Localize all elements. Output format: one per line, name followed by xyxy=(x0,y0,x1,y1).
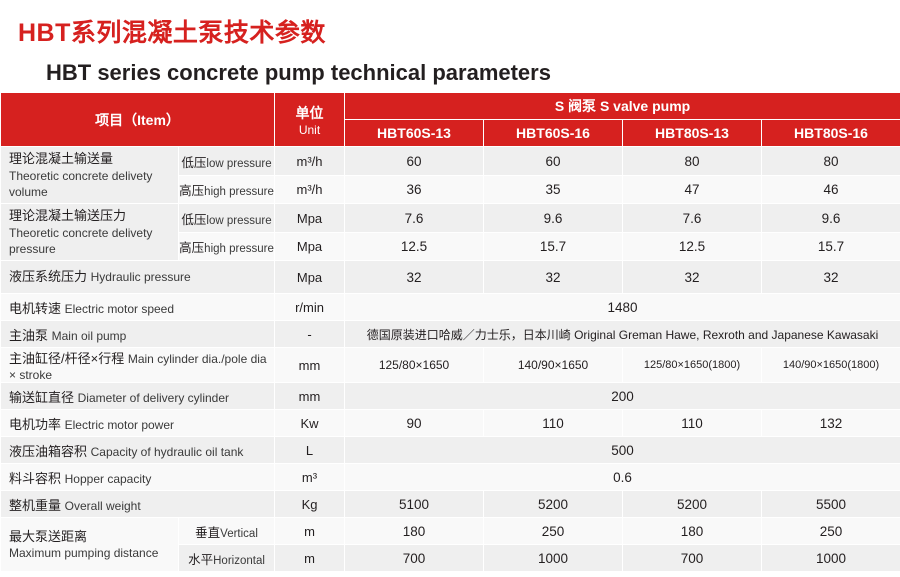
row-sublabel-vertical: 垂直Vertical xyxy=(179,518,275,545)
row-label-delivery-volume: 理论混凝土输送量 Theoretic concrete delivety vol… xyxy=(1,147,179,204)
cell-value: 9.6 xyxy=(762,204,900,232)
cell-value: 5100 xyxy=(345,491,484,518)
row-label-en: Theoretic concrete delivety volume xyxy=(9,168,178,200)
cell-value: 80 xyxy=(623,147,762,175)
cell-value: 110 xyxy=(484,410,623,437)
row-label-en: Overall weight xyxy=(65,499,141,513)
row-label-cn: 液压系统压力 xyxy=(9,269,87,284)
row-label-en: Electric motor speed xyxy=(65,302,174,316)
cell-value-merged: 1480 xyxy=(345,294,900,321)
header-unit: 单位 Unit xyxy=(275,93,345,147)
cell-value: 32 xyxy=(623,261,762,294)
row-unit: mm xyxy=(275,348,345,383)
header-unit-cn: 单位 xyxy=(275,103,344,123)
row-label-overall-weight: 整机重量 Overall weight xyxy=(1,491,275,518)
sublabel-cn: 低压 xyxy=(181,156,206,170)
cell-value: 250 xyxy=(762,518,900,545)
cell-value: 7.6 xyxy=(623,204,762,232)
cell-value: 5200 xyxy=(484,491,623,518)
row-label-cn: 整机重量 xyxy=(9,498,61,513)
cell-value: 15.7 xyxy=(484,232,623,260)
cell-value: 125/80×1650 xyxy=(345,348,484,383)
row-label-hydraulic-pressure: 液压系统压力 Hydraulic pressure xyxy=(1,261,275,294)
cell-value: 5200 xyxy=(623,491,762,518)
table-row: 电机功率 Electric motor power Kw 90 110 110 … xyxy=(1,410,900,437)
header-unit-en: Unit xyxy=(275,123,344,137)
row-label-cn: 理论混凝土输送量 xyxy=(9,150,178,168)
table-row: 理论混凝土输送量 Theoretic concrete delivety vol… xyxy=(1,147,900,175)
row-unit: m³/h xyxy=(275,175,345,203)
cell-value-merged: 0.6 xyxy=(345,464,900,491)
cell-value: 46 xyxy=(762,175,900,203)
row-label-en: Diameter of delivery cylinder xyxy=(78,391,229,405)
row-label-oil-tank-capacity: 液压油箱容积 Capacity of hydraulic oil tank xyxy=(1,437,275,464)
cell-value: 32 xyxy=(762,261,900,294)
row-unit: m xyxy=(275,545,345,572)
cell-value: 1000 xyxy=(762,545,900,572)
row-unit: m³/h xyxy=(275,147,345,175)
sublabel-en: Vertical xyxy=(220,528,258,540)
sublabel-en: low pressure xyxy=(206,215,271,227)
cell-value-merged: 200 xyxy=(345,383,900,410)
row-label-main-cylinder: 主油缸径/杆径×行程 Main cylinder dia./pole dia ×… xyxy=(1,348,275,383)
spec-table: 项目（Item） 单位 Unit S 阀泵 S valve pump HBT60… xyxy=(0,92,900,572)
header-model-2: HBT60S-16 xyxy=(484,120,623,147)
cell-value: 35 xyxy=(484,175,623,203)
row-sublabel-low-pressure: 低压low pressure xyxy=(179,204,275,232)
row-label-cn: 电机功率 xyxy=(9,417,61,432)
row-label-en: Hydraulic pressure xyxy=(91,270,191,284)
row-label-cn: 料斗容积 xyxy=(9,471,61,486)
row-label-cn: 理论混凝土输送压力 xyxy=(9,207,178,225)
row-label-en: Hopper capacity xyxy=(65,472,152,486)
row-unit: r/min xyxy=(275,294,345,321)
row-unit: Kg xyxy=(275,491,345,518)
row-label-main-oil-pump: 主油泵 Main oil pump xyxy=(1,321,275,348)
cell-value-merged: 500 xyxy=(345,437,900,464)
row-label-cn: 液压油箱容积 xyxy=(9,444,87,459)
row-label-max-pumping-distance: 最大泵送距离 Maximum pumping distance xyxy=(1,518,179,572)
row-sublabel-high-pressure: 高压high pressure xyxy=(179,232,275,260)
cell-value: 180 xyxy=(345,518,484,545)
row-sublabel-horizontal: 水平Horizontal xyxy=(179,545,275,572)
cell-value: 5500 xyxy=(762,491,900,518)
table-row: 整机重量 Overall weight Kg 5100 5200 5200 55… xyxy=(1,491,900,518)
cell-value-merged: 德国原装进口哈威／力士乐，日本川崎 Original Greman Hawe, … xyxy=(345,321,900,348)
sublabel-cn: 高压 xyxy=(179,184,204,198)
table-header-row-1: 项目（Item） 单位 Unit S 阀泵 S valve pump xyxy=(1,93,900,120)
header-item-cn: 项目 xyxy=(95,112,123,128)
table-row: 主油泵 Main oil pump - 德国原装进口哈威／力士乐，日本川崎 Or… xyxy=(1,321,900,348)
cell-value: 9.6 xyxy=(484,204,623,232)
cell-value: 47 xyxy=(623,175,762,203)
cell-value: 32 xyxy=(345,261,484,294)
row-unit: m³ xyxy=(275,464,345,491)
table-row: 液压系统压力 Hydraulic pressure Mpa 32 32 32 3… xyxy=(1,261,900,294)
page-title-cn: HBT系列混凝土泵技术参数 xyxy=(18,18,900,48)
row-sublabel-low-pressure: 低压low pressure xyxy=(179,147,275,175)
cell-value: 60 xyxy=(345,147,484,175)
row-label-cn: 主油泵 xyxy=(9,328,48,343)
row-unit: Kw xyxy=(275,410,345,437)
cell-value: 132 xyxy=(762,410,900,437)
header-item-en: （Item） xyxy=(123,112,180,128)
row-label-delivery-cylinder-dia: 输送缸直径 Diameter of delivery cylinder xyxy=(1,383,275,410)
row-label-motor-power: 电机功率 Electric motor power xyxy=(1,410,275,437)
table-row: 料斗容积 Hopper capacity m³ 0.6 xyxy=(1,464,900,491)
cell-value: 180 xyxy=(623,518,762,545)
row-label-en: Main oil pump xyxy=(52,329,127,343)
cell-value: 110 xyxy=(623,410,762,437)
row-sublabel-high-pressure: 高压high pressure xyxy=(179,175,275,203)
table-row: 主油缸径/杆径×行程 Main cylinder dia./pole dia ×… xyxy=(1,348,900,383)
row-label-cn: 主油缸径/杆径×行程 xyxy=(9,351,124,366)
cell-value: 80 xyxy=(762,147,900,175)
cell-value: 15.7 xyxy=(762,232,900,260)
row-label-en: Theoretic concrete delivety pressure xyxy=(9,225,178,257)
row-label-en: Maximum pumping distance xyxy=(9,545,178,561)
table-row: 电机转速 Electric motor speed r/min 1480 xyxy=(1,294,900,321)
sublabel-en: low pressure xyxy=(206,158,271,170)
cell-value: 140/90×1650 xyxy=(484,348,623,383)
cell-value: 1000 xyxy=(484,545,623,572)
cell-value: 700 xyxy=(345,545,484,572)
cell-value: 36 xyxy=(345,175,484,203)
header-group-svalve: S 阀泵 S valve pump xyxy=(345,93,900,120)
header-item: 项目（Item） xyxy=(1,93,275,147)
cell-value: 12.5 xyxy=(345,232,484,260)
row-unit: mm xyxy=(275,383,345,410)
row-label-cn: 输送缸直径 xyxy=(9,390,74,405)
row-label-cn: 电机转速 xyxy=(9,301,61,316)
row-label-delivery-pressure: 理论混凝土输送压力 Theoretic concrete delivety pr… xyxy=(1,204,179,261)
row-label-en: Electric motor power xyxy=(65,418,174,432)
table-row: 输送缸直径 Diameter of delivery cylinder mm 2… xyxy=(1,383,900,410)
table-row: 理论混凝土输送压力 Theoretic concrete delivety pr… xyxy=(1,204,900,232)
table-body: 理论混凝土输送量 Theoretic concrete delivety vol… xyxy=(1,147,900,572)
sublabel-cn: 垂直 xyxy=(195,526,220,540)
row-label-motor-speed: 电机转速 Electric motor speed xyxy=(1,294,275,321)
row-unit: Mpa xyxy=(275,204,345,232)
row-label-hopper-capacity: 料斗容积 Hopper capacity xyxy=(1,464,275,491)
table-row: 液压油箱容积 Capacity of hydraulic oil tank L … xyxy=(1,437,900,464)
page-title-en: HBT series concrete pump technical param… xyxy=(46,60,900,86)
header-model-3: HBT80S-13 xyxy=(623,120,762,147)
sublabel-en: Horizontal xyxy=(213,555,265,567)
sublabel-en: high pressure xyxy=(204,186,274,198)
row-unit: L xyxy=(275,437,345,464)
cell-value: 12.5 xyxy=(623,232,762,260)
cell-value: 7.6 xyxy=(345,204,484,232)
row-label-en: Capacity of hydraulic oil tank xyxy=(91,445,244,459)
cell-value: 250 xyxy=(484,518,623,545)
header-model-1: HBT60S-13 xyxy=(345,120,484,147)
sublabel-cn: 高压 xyxy=(179,241,204,255)
table-row: 最大泵送距离 Maximum pumping distance 垂直Vertic… xyxy=(1,518,900,545)
cell-value: 60 xyxy=(484,147,623,175)
sublabel-cn: 低压 xyxy=(181,213,206,227)
row-label-cn: 最大泵送距离 xyxy=(9,528,178,546)
cell-value: 140/90×1650(1800) xyxy=(762,348,900,383)
table-head: 项目（Item） 单位 Unit S 阀泵 S valve pump HBT60… xyxy=(1,93,900,147)
cell-value: 32 xyxy=(484,261,623,294)
row-unit: Mpa xyxy=(275,261,345,294)
row-unit: - xyxy=(275,321,345,348)
cell-value: 125/80×1650(1800) xyxy=(623,348,762,383)
cell-value: 90 xyxy=(345,410,484,437)
header-model-4: HBT80S-16 xyxy=(762,120,900,147)
page-header: HBT系列混凝土泵技术参数 HBT series concrete pump t… xyxy=(0,0,900,92)
row-unit: m xyxy=(275,518,345,545)
sublabel-en: high pressure xyxy=(204,243,274,255)
cell-value: 700 xyxy=(623,545,762,572)
sublabel-cn: 水平 xyxy=(188,553,213,567)
row-unit: Mpa xyxy=(275,232,345,260)
